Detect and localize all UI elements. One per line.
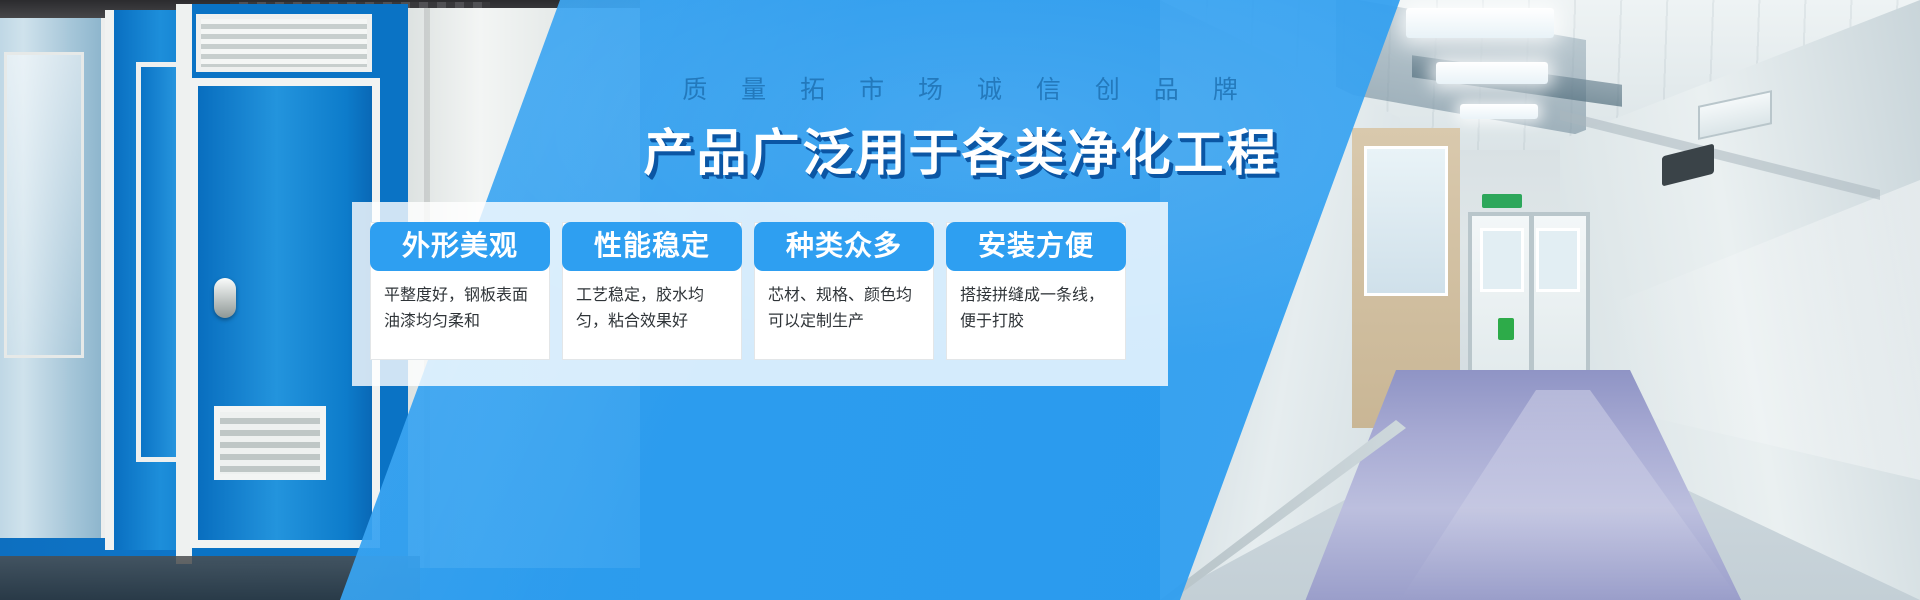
feature-card[interactable]: 种类众多 芯材、规格、颜色均可以定制生产 [754, 222, 934, 360]
feature-card-title: 性能稳定 [562, 222, 742, 271]
feature-card-body: 工艺稳定，胶水均匀，粘合效果好 [563, 271, 741, 359]
cabin-vent-top [196, 14, 372, 72]
feature-card-body: 平整度好，钢板表面油漆均匀柔和 [371, 271, 549, 359]
cabin-louver-bottom [214, 406, 326, 480]
feature-card[interactable]: 性能稳定 工艺稳定，胶水均匀，粘合效果好 [562, 222, 742, 360]
exit-sign [1482, 194, 1522, 208]
door-handle-main [214, 278, 236, 318]
feature-card-list: 外形美观 平整度好，钢板表面油漆均匀柔和 性能稳定 工艺稳定，胶水均匀，粘合效果… [352, 202, 1168, 386]
promo-banner: 质 量 拓 市 场 诚 信 创 品 牌 产品广泛用于各类净化工程 外形美观 平整… [0, 0, 1920, 600]
banner-subtitle: 质 量 拓 市 场 诚 信 创 品 牌 [0, 70, 1920, 106]
banner-headline: 产品广泛用于各类净化工程 [0, 113, 1920, 185]
feature-card[interactable]: 安装方便 搭接拼缝成一条线，便于打胶 [946, 222, 1126, 360]
feature-card-title: 安装方便 [946, 222, 1126, 271]
feature-card-body: 芯材、规格、颜色均可以定制生产 [755, 271, 933, 359]
green-indicator [1498, 318, 1514, 340]
ceiling-light-near [1406, 8, 1554, 38]
end-door-window-left [1480, 228, 1524, 292]
end-door-window-right [1536, 228, 1580, 292]
feature-card-title: 种类众多 [754, 222, 934, 271]
feature-card-body: 搭接拼缝成一条线，便于打胶 [947, 271, 1125, 359]
feature-card[interactable]: 外形美观 平整度好，钢板表面油漆均匀柔和 [370, 222, 550, 360]
feature-card-title: 外形美观 [370, 222, 550, 271]
